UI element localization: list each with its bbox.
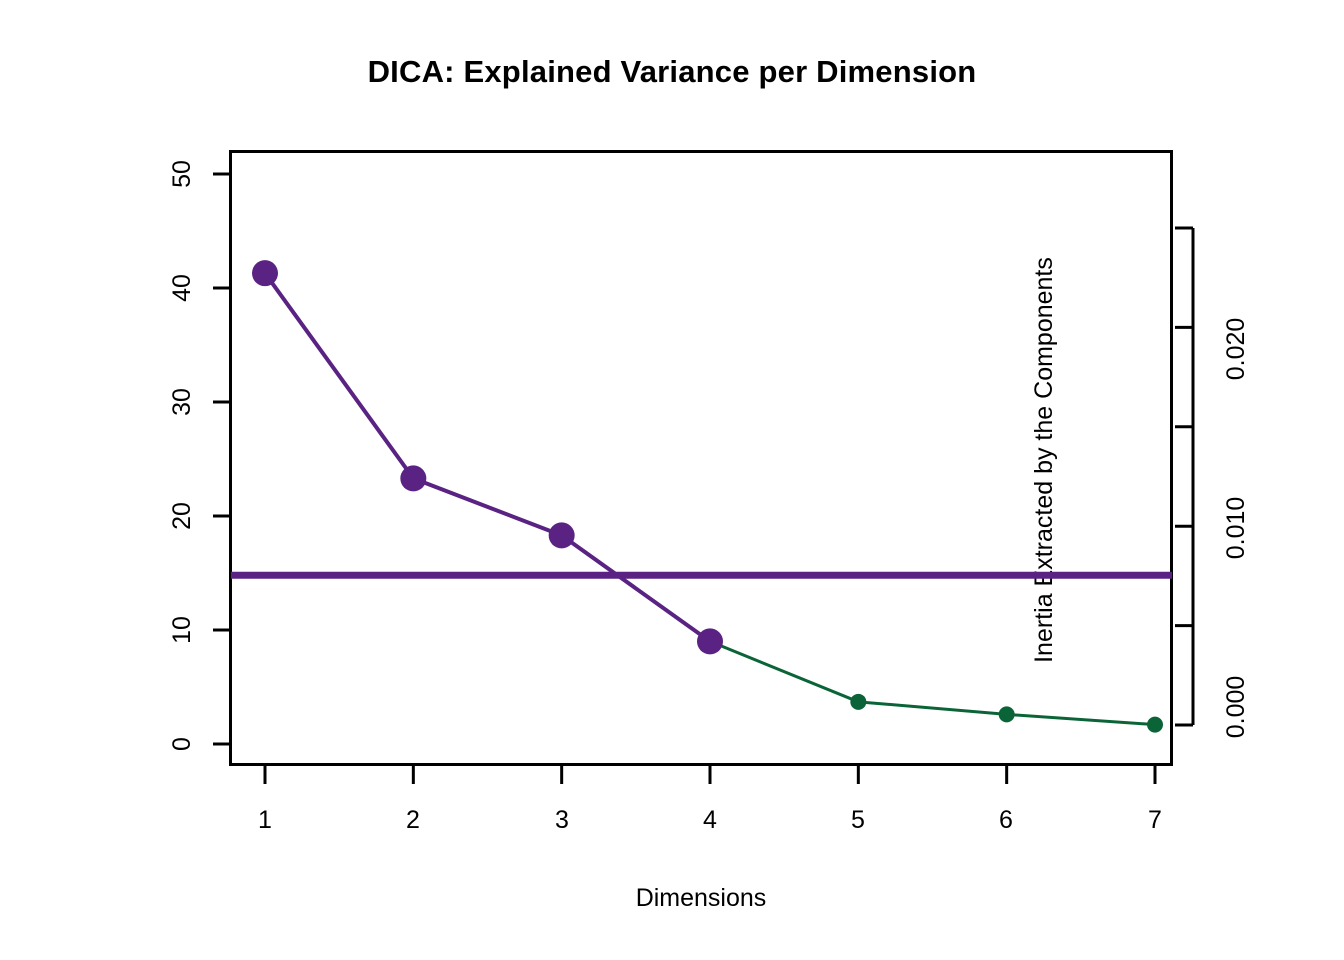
series-segment	[562, 535, 710, 641]
plot-area	[0, 0, 1344, 960]
chart-canvas: DICA: Explained Variance per Dimension P…	[0, 0, 1344, 960]
series-segment	[265, 273, 413, 478]
data-point	[850, 694, 866, 710]
series-segment	[413, 478, 561, 535]
data-point	[999, 706, 1015, 722]
series-segment	[1007, 714, 1155, 724]
series-points	[252, 260, 1163, 732]
left-axis-ticks	[213, 174, 231, 744]
bottom-axis-ticks	[265, 764, 1155, 784]
data-point	[697, 628, 723, 654]
series-segment	[858, 702, 1006, 715]
series-segment	[710, 641, 858, 701]
plot-frame	[231, 152, 1172, 765]
series-line	[265, 273, 1155, 724]
data-point	[252, 260, 278, 286]
data-point	[549, 522, 575, 548]
data-point	[400, 465, 426, 491]
right-secondary-axis	[1175, 228, 1193, 725]
data-point	[1147, 717, 1163, 733]
